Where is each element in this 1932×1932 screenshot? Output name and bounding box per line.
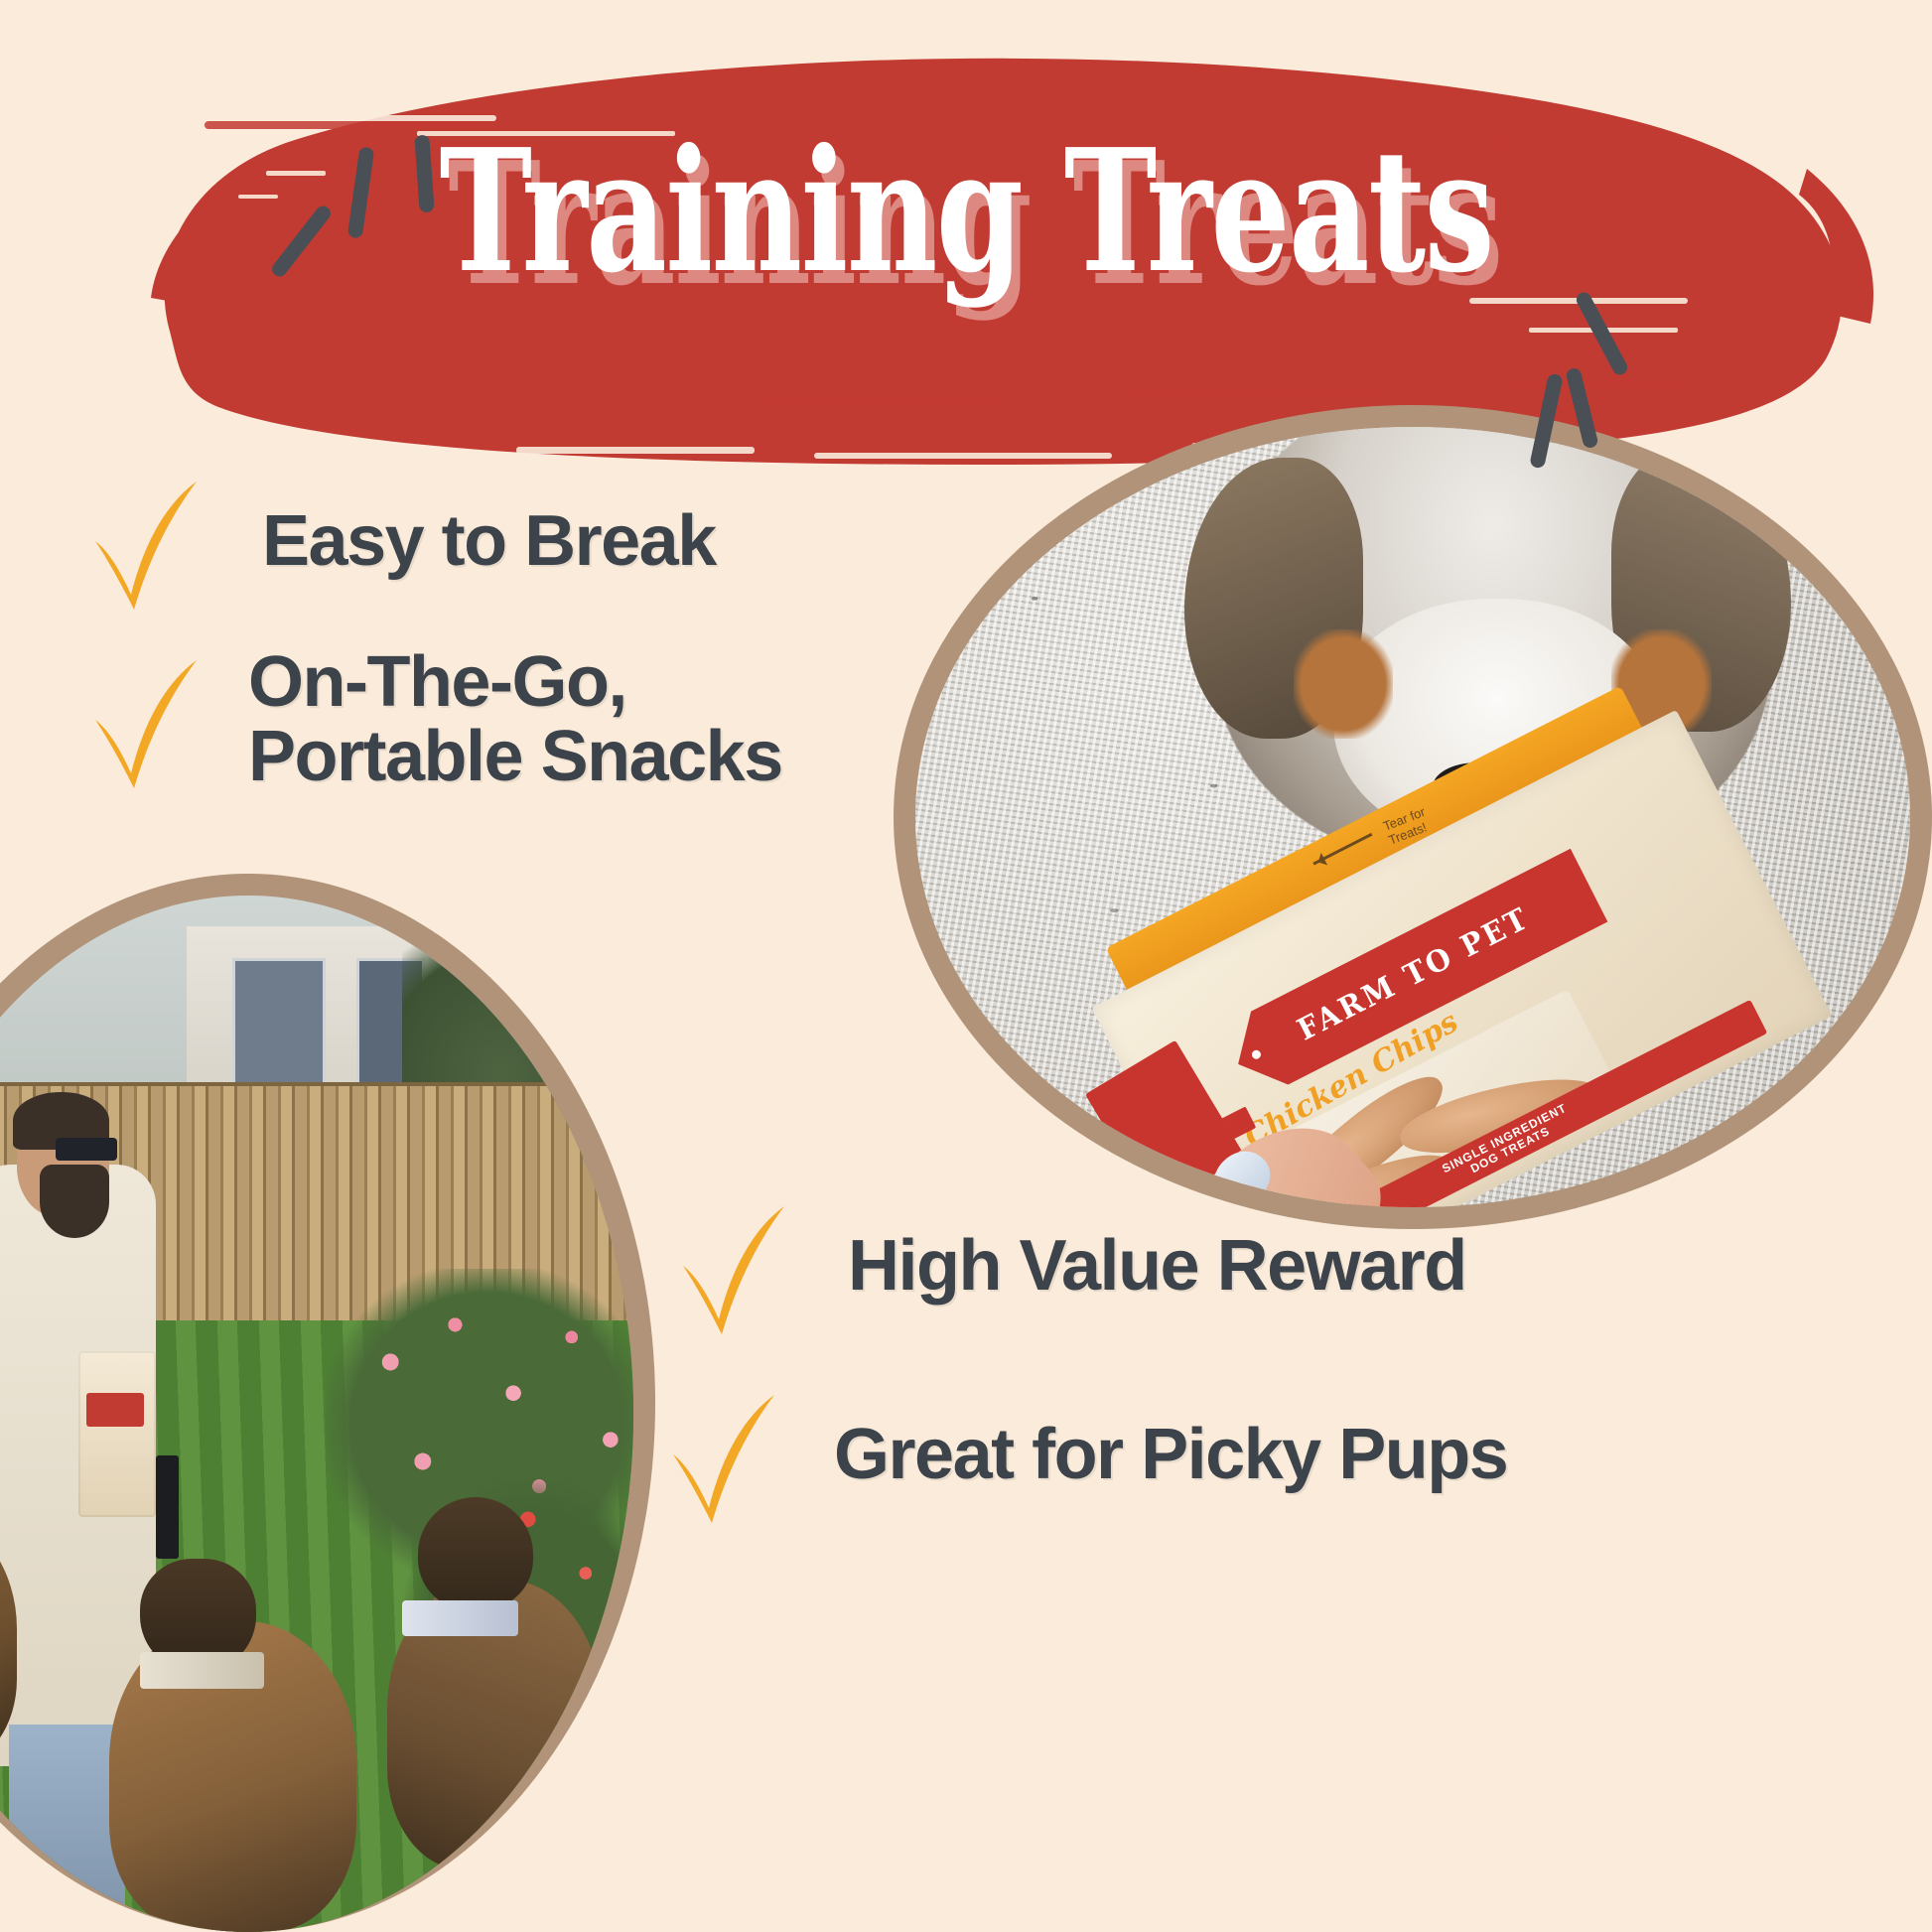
bullet-label: High Value Reward bbox=[848, 1229, 1466, 1304]
puppy-tan-marking-left bbox=[1294, 629, 1393, 739]
bullet-high-value-reward: High Value Reward bbox=[665, 1191, 1466, 1340]
dogs-photo bbox=[0, 896, 633, 1932]
backyard-scene bbox=[0, 896, 633, 1932]
dog-center-bandana bbox=[140, 1652, 263, 1689]
treat-bag-brand-tag bbox=[86, 1393, 144, 1426]
bullet-label: Easy to Break bbox=[262, 504, 716, 579]
check-icon bbox=[655, 1380, 804, 1529]
bullet-easy-to-break: Easy to Break bbox=[77, 467, 716, 616]
promo-poster: Training Treats Easy to Break On-The-Go,… bbox=[0, 0, 1932, 1932]
bullet-label: On-The-Go, Portable Snacks bbox=[248, 645, 782, 794]
tag-hole-icon bbox=[1250, 1048, 1262, 1060]
treat-bag-in-hand bbox=[78, 1351, 156, 1517]
puppy-scene: Tear for Treats! FARM TO PET Chicken Chi… bbox=[915, 427, 1910, 1207]
bullet-on-the-go: On-The-Go, Portable Snacks bbox=[77, 645, 782, 794]
bullet-label: Great for Picky Pups bbox=[834, 1418, 1507, 1492]
puppy-photo: Tear for Treats! FARM TO PET Chicken Chi… bbox=[915, 427, 1910, 1207]
man-beard bbox=[40, 1165, 109, 1237]
man-legs bbox=[9, 1725, 124, 1932]
check-icon bbox=[665, 1191, 814, 1340]
dog-right-head bbox=[418, 1497, 533, 1611]
bullet-great-for-picky-pups: Great for Picky Pups bbox=[655, 1380, 1507, 1529]
check-icon bbox=[77, 467, 226, 616]
sunglasses-icon bbox=[56, 1138, 117, 1161]
check-icon bbox=[77, 645, 226, 794]
dog-right-bandana bbox=[402, 1600, 517, 1637]
phone bbox=[156, 1455, 179, 1559]
